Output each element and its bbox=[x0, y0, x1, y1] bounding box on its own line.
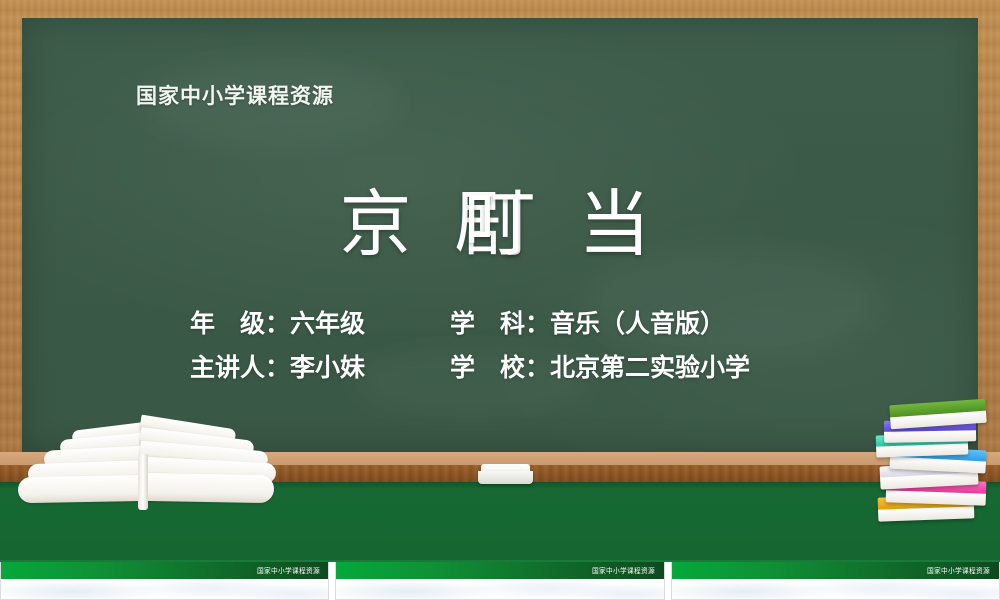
book-stack-icon bbox=[872, 400, 996, 530]
slide-canvas: 国家中小学课程资源 京 剧 叮 当 年 级：六年级 学 科：音乐（人音版） 主讲… bbox=[0, 0, 1000, 600]
eraser-icon bbox=[478, 464, 533, 484]
thumbnail-body bbox=[1, 579, 328, 600]
slide-thumbnail[interactable]: 国家中小学课程资源 bbox=[0, 562, 329, 600]
slide-thumbnail-strip[interactable]: 国家中小学课程资源 国家中小学课程资源 国家中小学课程资源 bbox=[0, 562, 1000, 600]
thumbnail-header-bar: 国家中小学课程资源 bbox=[672, 562, 999, 579]
eraser-body bbox=[478, 471, 533, 484]
book-pages bbox=[878, 506, 974, 522]
thumbnail-header-bar: 国家中小学课程资源 bbox=[336, 562, 663, 579]
metadata-subject-label: 学 科：音乐（人音版） bbox=[450, 302, 810, 346]
slide-thumbnail[interactable]: 国家中小学课程资源 bbox=[671, 562, 1000, 600]
thumbnail-body bbox=[336, 579, 663, 600]
thumbnail-body bbox=[672, 579, 999, 600]
slide-thumbnail[interactable]: 国家中小学课程资源 bbox=[335, 562, 664, 600]
thumbnail-brand-label: 国家中小学课程资源 bbox=[257, 566, 329, 576]
book-pages bbox=[884, 430, 976, 443]
thumbnail-brand-label: 国家中小学课程资源 bbox=[592, 566, 664, 576]
book-page bbox=[140, 473, 274, 503]
open-book-icon bbox=[14, 418, 274, 510]
metadata-grade-label: 年 级：六年级 bbox=[190, 302, 450, 346]
thumbnail-header-bar: 国家中小学课程资源 bbox=[1, 562, 328, 579]
metadata-teacher-label: 主讲人：李小妹 bbox=[190, 346, 450, 390]
metadata-school-label: 学 校：北京第二实验小学 bbox=[450, 346, 810, 390]
slide-title: 京 剧 叮 当 bbox=[0, 178, 1000, 274]
slide-title-secondary: 叮 当 bbox=[62, 178, 1000, 270]
thumbnail-brand-label: 国家中小学课程资源 bbox=[927, 566, 999, 576]
book-page bbox=[18, 475, 152, 503]
slide-metadata: 年 级：六年级 学 科：音乐（人音版） 主讲人：李小妹 学 校：北京第二实验小学 bbox=[0, 302, 1000, 390]
metadata-row: 年 级：六年级 学 科：音乐（人音版） bbox=[0, 302, 1000, 346]
brand-label: 国家中小学课程资源 bbox=[136, 80, 334, 110]
book-spine bbox=[138, 454, 148, 510]
metadata-row: 主讲人：李小妹 学 校：北京第二实验小学 bbox=[0, 346, 1000, 390]
